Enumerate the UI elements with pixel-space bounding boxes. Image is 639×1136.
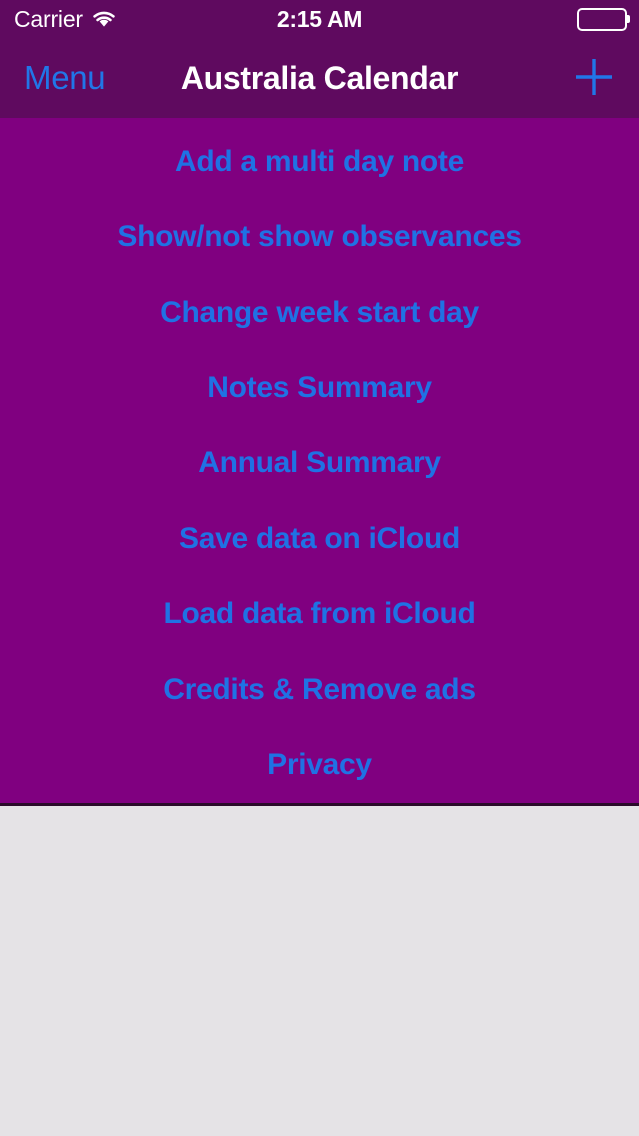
status-bar-right [577, 0, 627, 38]
page-title: Australia Calendar [0, 60, 639, 97]
content-area [0, 809, 639, 1136]
menu-list: Add a multi day note Show/not show obser… [0, 118, 639, 806]
plus-icon [571, 54, 617, 103]
menu-item-annual-summary[interactable]: Annual Summary [0, 426, 639, 501]
menu-item-change-week-start-day[interactable]: Change week start day [0, 275, 639, 350]
menu-item-add-multi-day-note[interactable]: Add a multi day note [0, 124, 639, 199]
menu-item-privacy[interactable]: Privacy [0, 728, 639, 803]
menu-item-credits-remove-ads[interactable]: Credits & Remove ads [0, 652, 639, 727]
navigation-bar: Menu Australia Calendar [0, 38, 639, 118]
status-bar: Carrier 2:15 AM [0, 0, 639, 38]
add-button[interactable] [571, 55, 617, 101]
menu-item-load-data-icloud[interactable]: Load data from iCloud [0, 577, 639, 652]
status-bar-time: 2:15 AM [0, 0, 639, 38]
app-screen: Carrier 2:15 AM Menu Australia Calendar [0, 0, 639, 1136]
battery-icon [577, 8, 627, 31]
menu-item-save-data-icloud[interactable]: Save data on iCloud [0, 501, 639, 576]
menu-item-show-observances[interactable]: Show/not show observances [0, 199, 639, 274]
menu-item-notes-summary[interactable]: Notes Summary [0, 350, 639, 425]
battery-cap [627, 15, 630, 23]
